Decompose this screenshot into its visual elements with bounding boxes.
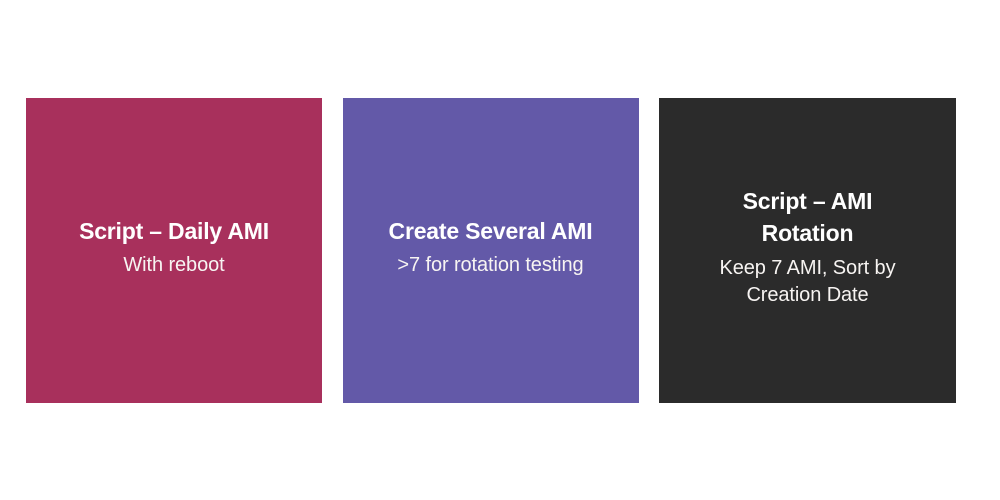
card-title: Script – AMI Rotation <box>708 186 908 249</box>
card-title: Create Several AMI <box>389 216 593 247</box>
card-create-several-ami[interactable]: Create Several AMI >7 for rotation testi… <box>343 98 639 403</box>
card-title: Script – Daily AMI <box>79 216 269 247</box>
card-subtitle: Keep 7 AMI, Sort by Creation Date <box>693 255 923 309</box>
card-subtitle: With reboot <box>123 252 224 279</box>
card-subtitle: >7 for rotation testing <box>397 252 583 279</box>
card-daily-ami[interactable]: Script – Daily AMI With reboot <box>26 98 322 403</box>
card-ami-rotation[interactable]: Script – AMI Rotation Keep 7 AMI, Sort b… <box>659 98 956 403</box>
card-row: Script – Daily AMI With reboot Create Se… <box>26 98 956 403</box>
slide-canvas: Script – Daily AMI With reboot Create Se… <box>0 0 1000 500</box>
